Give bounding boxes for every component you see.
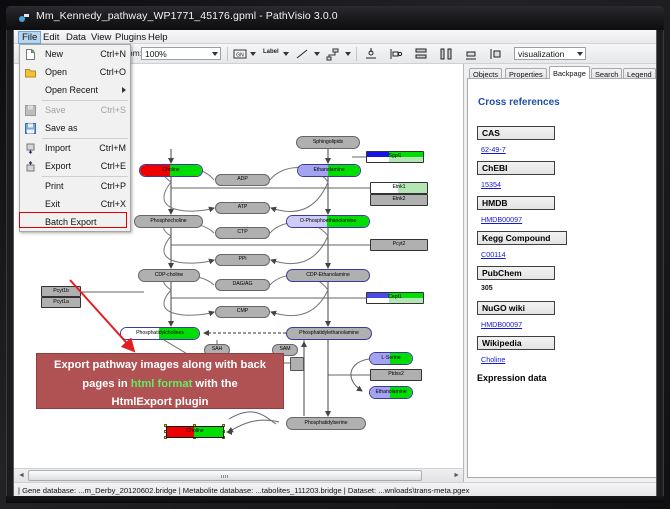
node-ctp[interactable]: CTP: [215, 227, 270, 239]
gene-pcyt1a[interactable]: Pcyt1a: [41, 297, 81, 308]
label-tool-icon[interactable]: Label: [263, 49, 279, 55]
menu-separator: [42, 176, 128, 177]
fill-bl: [367, 157, 389, 162]
xref-label-wikipedia: Wikipedia: [477, 336, 555, 350]
scroll-right-icon[interactable]: ►: [453, 472, 460, 479]
label-dropdown-icon[interactable]: [283, 52, 289, 56]
menu-edit[interactable]: Edit: [39, 31, 63, 44]
application-window: Mm_Kennedy_pathway_WP1771_45176.gpml - P…: [6, 6, 664, 503]
gene-pcyt2[interactable]: Pcyt2: [370, 239, 428, 251]
anchor-box[interactable]: [290, 357, 304, 371]
menu-item-save-as[interactable]: Save as: [21, 120, 131, 137]
label: Import: [45, 143, 71, 153]
xref-value-kegg-compound[interactable]: C00114: [481, 250, 506, 259]
node-o-phosphoethanolamine[interactable]: O-Phosphoethanolamine: [286, 215, 370, 228]
menu-item-save: Save Ctrl+S: [21, 102, 131, 119]
visualization-combobox[interactable]: visualization: [514, 47, 586, 60]
menu-item-open-recent[interactable]: Open Recent: [21, 82, 131, 99]
xref-value-wikipedia[interactable]: Choline: [481, 355, 505, 364]
fill-bl: [367, 298, 389, 303]
save-disk-icon: [25, 105, 36, 116]
label: Print: [45, 181, 64, 191]
align-top-icon[interactable]: [364, 47, 378, 61]
tab-backpage[interactable]: Backpage: [549, 66, 590, 79]
label: Open Recent: [45, 85, 98, 95]
accelerator: Ctrl+E: [101, 161, 126, 171]
node-ppi[interactable]: PPi: [215, 254, 270, 266]
zoom-combobox[interactable]: 100%: [141, 47, 221, 60]
datanode-icon[interactable]: GN: [233, 47, 247, 61]
menu-item-exit[interactable]: Exit Ctrl+X: [21, 196, 131, 213]
status-text: | Gene database: ...m_Derby_20120602.bri…: [18, 486, 469, 495]
node-cdp-ethanolamine[interactable]: CDP-Ethanolamine: [286, 269, 370, 282]
label: Save as: [45, 123, 78, 133]
accelerator: Ctrl+S: [101, 105, 126, 115]
menu-bar: File Edit Data View Plugins Help: [14, 30, 656, 44]
accelerator: Ctrl+N: [100, 49, 126, 59]
file-menu-dropdown[interactable]: New Ctrl+N Open Ctrl+O Open Recent: [19, 44, 131, 232]
window-title: Mm_Kennedy_pathway_WP1771_45176.gpml - P…: [36, 10, 338, 22]
callout-line-1: Export pathway images along with back: [37, 356, 283, 375]
distribute-horizontal-icon[interactable]: [439, 47, 453, 61]
accelerator: Ctrl+X: [101, 199, 126, 209]
node-cmp[interactable]: CMP: [215, 306, 270, 318]
menu-item-export[interactable]: Export Ctrl+E: [21, 158, 131, 175]
xref-value-cas[interactable]: 62-49-7: [481, 145, 506, 154]
accelerator: Ctrl+M: [99, 143, 126, 153]
gene-sgpl1[interactable]: Sgpl1: [366, 151, 424, 163]
screenshot-root: Mm_Kennedy_pathway_WP1771_45176.gpml - P…: [0, 0, 670, 509]
xref-value-nugo-wiki[interactable]: HMDB00097: [481, 320, 522, 329]
menu-item-open[interactable]: Open Ctrl+O: [21, 64, 131, 81]
side-panel: Objects Properties Backpage Search Legen…: [465, 64, 657, 496]
xref-label-chebi: ChEBI: [477, 161, 555, 175]
menu-data[interactable]: Data: [62, 31, 90, 44]
toolbar-separator: [227, 47, 228, 61]
chevron-right-icon: [122, 87, 126, 93]
menu-separator: [42, 100, 128, 101]
export-icon: [25, 161, 36, 172]
gene-etnk2[interactable]: Etnk2: [370, 194, 428, 206]
visualization-value: visualization: [518, 49, 564, 59]
node-sphingolipids[interactable]: Sphingolipids: [296, 136, 360, 149]
chevron-down-icon: [577, 52, 583, 56]
gene-cept1[interactable]: Cept1: [366, 292, 424, 304]
hscroll-thumb[interactable]: [28, 470, 422, 481]
client-area: File Edit Data View Plugins Help Zoom: 1…: [13, 30, 657, 496]
xref-value-pubchem: 305: [481, 285, 493, 292]
menu-file[interactable]: File: [18, 31, 41, 44]
same-height-icon[interactable]: [489, 47, 503, 61]
node-atp[interactable]: ATP: [215, 202, 270, 214]
title-bar: Mm_Kennedy_pathway_WP1771_45176.gpml - P…: [6, 6, 664, 30]
zoom-value: 100%: [145, 49, 167, 59]
accelerator: Ctrl+P: [101, 181, 126, 191]
backpage-panel: Cross references CAS 62-49-7 ChEBI 15354…: [467, 78, 657, 478]
line-dropdown-icon[interactable]: [314, 52, 320, 56]
callout-line-2-a: pages in: [82, 378, 131, 390]
gene-pcyt1b[interactable]: Pcyt1b: [41, 286, 81, 297]
window-bottom-strip: [6, 496, 664, 503]
xref-label-cas: CAS: [477, 126, 555, 140]
datanode-dropdown-icon[interactable]: [250, 52, 256, 56]
menu-item-print[interactable]: Print Ctrl+P: [21, 178, 131, 195]
xref-value-hmdb[interactable]: HMDB00097: [481, 215, 522, 224]
callout-line-2-highlight: html format: [131, 378, 193, 390]
node-phosphatidylcholines[interactable]: Phosphatidylcholines: [120, 327, 200, 340]
node-phosphatidylethanolamine[interactable]: Phosphatidylethanolamine: [286, 327, 372, 340]
chevron-down-icon: [212, 52, 218, 56]
label: Exit: [45, 199, 60, 209]
label: Export: [45, 161, 71, 171]
interaction-dropdown-icon[interactable]: [345, 52, 351, 56]
label: Open: [45, 67, 67, 77]
pathvisio-app-icon: [18, 12, 30, 24]
import-icon: [25, 143, 36, 154]
node-adp[interactable]: ADP: [215, 174, 270, 186]
xref-label-nugo-wiki: NuGO wiki: [477, 301, 555, 315]
xref-label-pubchem: PubChem: [477, 266, 555, 280]
canvas-hscrollbar[interactable]: ◄ ►: [14, 468, 464, 482]
menu-item-import[interactable]: Import Ctrl+M: [21, 140, 131, 157]
svg-text:GN: GN: [236, 53, 244, 59]
gene-etnk1[interactable]: Etnk1: [370, 182, 428, 194]
node-cdp-choline[interactable]: CDP-choline: [138, 269, 200, 282]
open-folder-icon: [25, 67, 36, 78]
save-as-icon: [25, 123, 36, 134]
xref-label-kegg-compound: Kegg Compound: [477, 231, 567, 245]
same-width-icon[interactable]: [464, 47, 478, 61]
expression-data-heading: Expression data: [477, 373, 547, 383]
menu-help[interactable]: Help: [144, 31, 172, 44]
callout-line-2: pages in html format with the: [37, 375, 283, 394]
distribute-vertical-icon[interactable]: [414, 47, 428, 61]
scroll-left-icon[interactable]: ◄: [18, 472, 25, 479]
align-left-icon[interactable]: [389, 47, 403, 61]
node-dag-ag[interactable]: DAG/AG: [215, 279, 270, 291]
new-document-icon: [25, 49, 36, 60]
toolbar-separator: [356, 47, 357, 61]
label: Save: [45, 105, 66, 115]
node-ethanolamine-bottom[interactable]: Ethanolamine: [369, 386, 413, 399]
node-l-serine[interactable]: L-Serine: [369, 352, 413, 365]
xref-label-hmdb: HMDB: [477, 196, 555, 210]
accelerator: Ctrl+O: [100, 67, 126, 77]
gene-ptdss2[interactable]: Ptdss2: [370, 369, 422, 381]
callout-line-3: HtmlExport plugin: [37, 393, 283, 412]
interaction-tool-icon[interactable]: [326, 47, 340, 61]
annotation-callout: Export pathway images along with back pa…: [36, 353, 284, 409]
callout-line-2-c: with the: [192, 378, 237, 390]
batch-export-highlight-rect: [19, 212, 127, 228]
node-phosphocholine[interactable]: Phosphocholine: [134, 215, 203, 228]
status-bar: | Gene database: ...m_Derby_20120602.bri…: [14, 482, 657, 496]
node-choline-selected[interactable]: Choline: [166, 426, 224, 438]
menu-separator: [42, 138, 128, 139]
menu-item-new[interactable]: New Ctrl+N: [21, 46, 131, 63]
line-tool-icon[interactable]: [295, 47, 309, 61]
cross-references-heading: Cross references: [478, 97, 560, 108]
label: New: [45, 49, 63, 59]
xref-value-chebi[interactable]: 15354: [481, 180, 501, 189]
node-phosphatidylserine[interactable]: Phosphatidylserine: [286, 417, 366, 430]
node-ethanolamine-top[interactable]: Ethanolamine: [297, 164, 361, 177]
node-choline-top[interactable]: Choline: [139, 164, 203, 177]
